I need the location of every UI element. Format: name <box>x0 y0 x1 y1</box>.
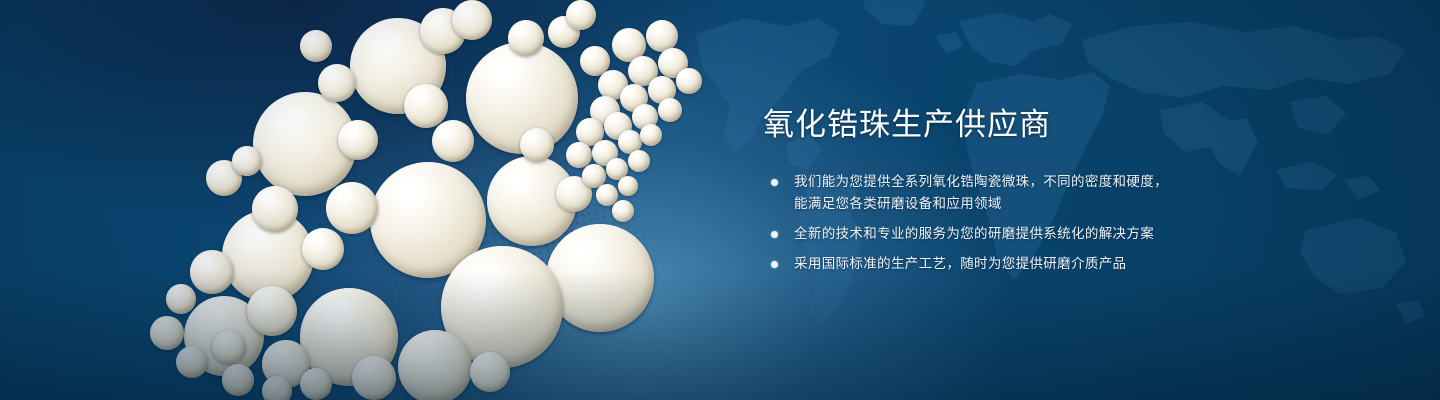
bullet-dot-icon <box>771 231 778 238</box>
banner-content: 氧化锆珠生产供应商 我们能为您提供全系列氧化锆陶瓷微珠，不同的密度和硬度， 能满… <box>763 108 1403 275</box>
hero-banner: 氧化锆珠生产供应商 我们能为您提供全系列氧化锆陶瓷微珠，不同的密度和硬度， 能满… <box>0 0 1440 400</box>
list-item-line1: 全新的技术和专业的服务为您的研磨提供系统化的解决方案 <box>794 226 1154 241</box>
list-item: 全新的技术和专业的服务为您的研磨提供系统化的解决方案 <box>763 223 1403 245</box>
list-item: 采用国际标准的生产工艺，随时为您提供研磨介质产品 <box>763 253 1403 275</box>
bottom-shade-overlay <box>0 270 1440 400</box>
list-item: 我们能为您提供全系列氧化锆陶瓷微珠，不同的密度和硬度， 能满足您各类研磨设备和应… <box>763 171 1403 215</box>
feature-list: 我们能为您提供全系列氧化锆陶瓷微珠，不同的密度和硬度， 能满足您各类研磨设备和应… <box>763 171 1403 275</box>
bullet-dot-icon <box>771 179 778 186</box>
bullet-dot-icon <box>771 261 778 268</box>
list-item-line1: 采用国际标准的生产工艺，随时为您提供研磨介质产品 <box>794 256 1126 271</box>
page-title: 氧化锆珠生产供应商 <box>763 108 1403 143</box>
list-item-line2: 能满足您各类研磨设备和应用领域 <box>794 193 1403 215</box>
list-item-line1: 我们能为您提供全系列氧化锆陶瓷微珠，不同的密度和硬度， <box>794 174 1168 189</box>
